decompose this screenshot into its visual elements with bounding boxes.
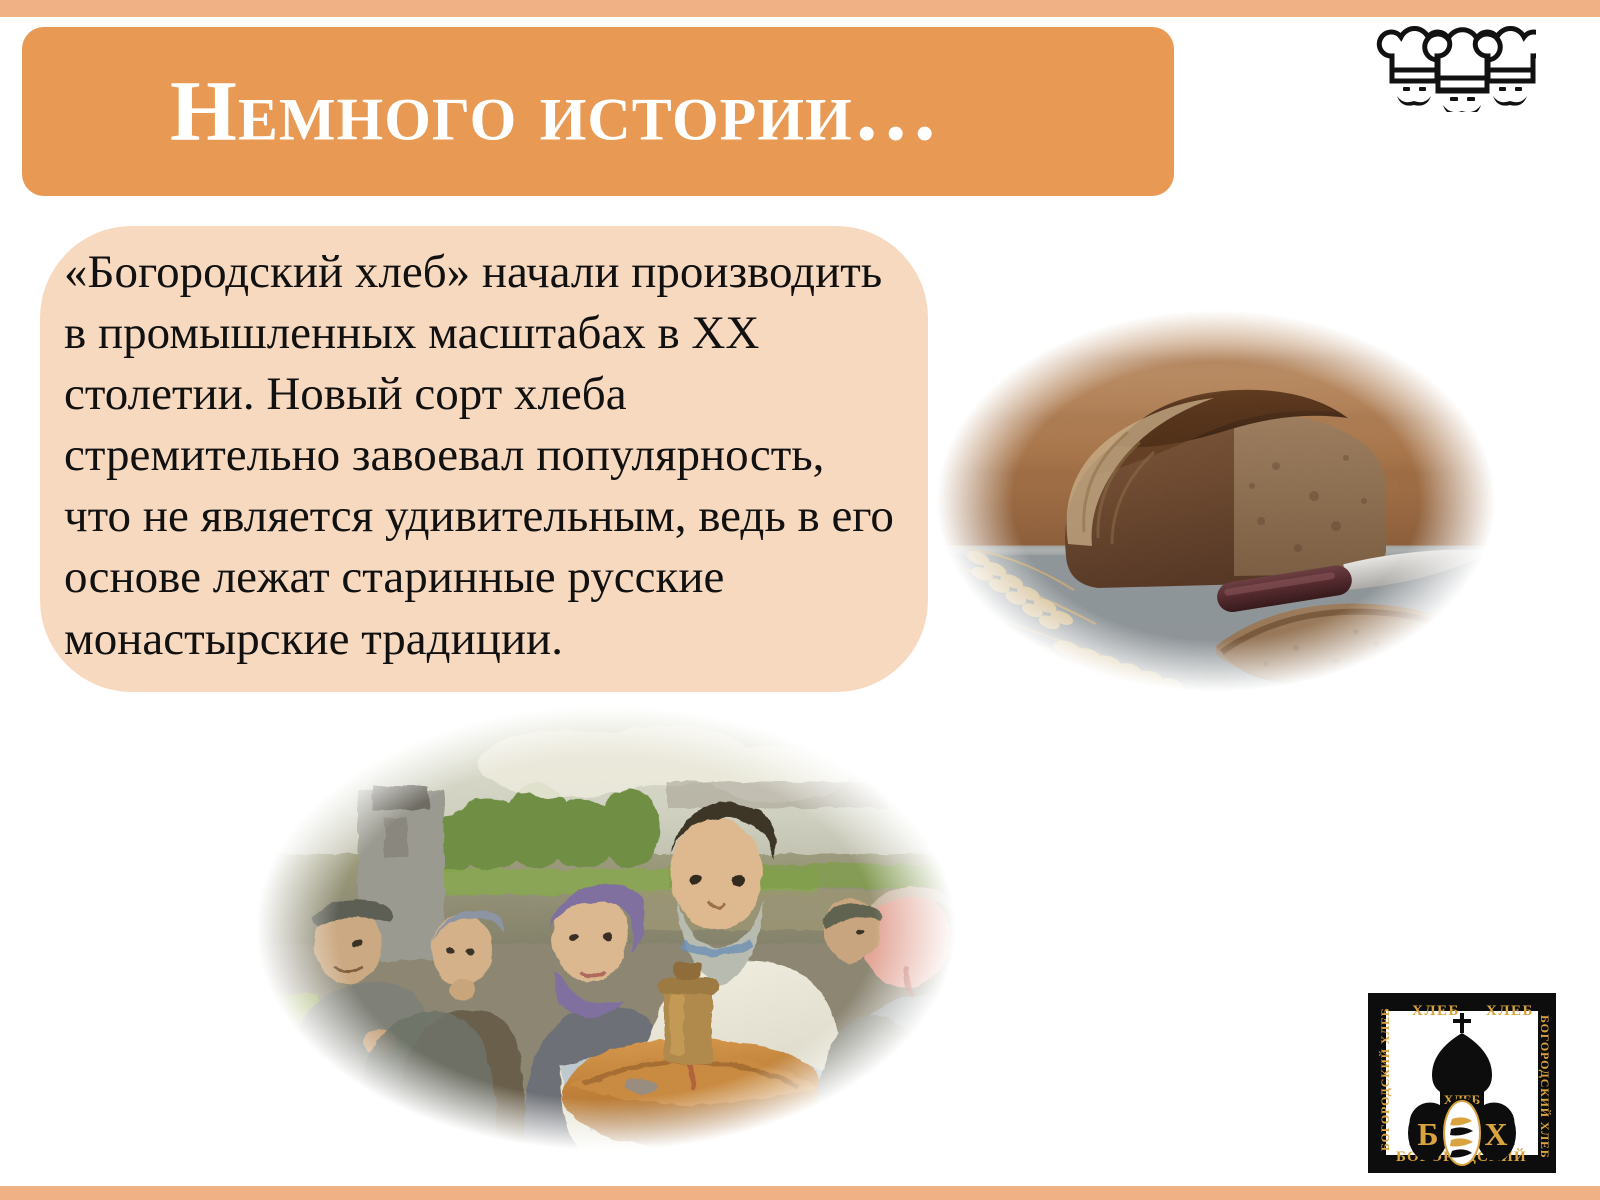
bottom-accent-bar	[0, 1186, 1600, 1200]
page-title: Немного истории…	[170, 67, 940, 153]
top-accent-bar	[0, 0, 1600, 17]
bread-and-salt-painting	[238, 694, 974, 1162]
logo-top-left-word: ХЛЕБ	[1412, 1003, 1460, 1019]
body-text: «Богородский хлеб» начали производить в …	[64, 242, 900, 670]
logo-right-side-word: БОГОРОДСКИЙ ХЛЕБ	[1538, 1015, 1552, 1159]
bogorodsky-hleb-logo: ХЛЕБ ХЛЕБ БОГОРОДСКИЙ БОГОРОДСКИЙ ХЛЕБ Б…	[1368, 993, 1556, 1173]
chef-hats-icon	[1376, 26, 1536, 112]
logo-top-right-word: ХЛЕБ	[1486, 1003, 1534, 1019]
slide: Немного истории…	[0, 0, 1600, 1200]
body-text-card: «Богородский хлеб» начали производить в …	[40, 226, 928, 692]
logo-monogram-left: Б	[1417, 1116, 1438, 1152]
rye-bread-photo	[916, 296, 1516, 706]
logo-left-side-word: БОГОРОДСКИЙ ХЛЕБ	[1378, 1008, 1392, 1152]
logo-monogram-right: Х	[1484, 1116, 1507, 1152]
title-banner: Немного истории…	[22, 27, 1174, 196]
